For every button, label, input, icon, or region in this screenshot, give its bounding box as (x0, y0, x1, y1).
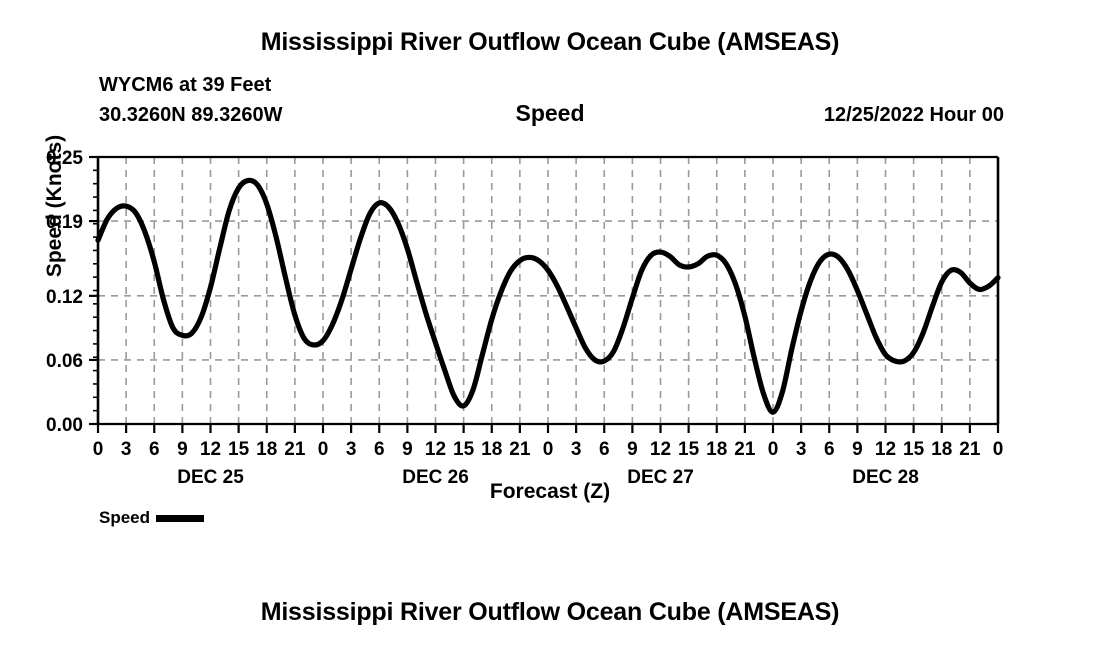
day-label: DEC 26 (402, 467, 469, 488)
y-tick-label: 0.00 (46, 415, 83, 436)
x-tick-label: 6 (824, 439, 835, 460)
x-tick-label: 18 (481, 439, 502, 460)
x-tick-label: 0 (768, 439, 779, 460)
speed-time-series-chart: 0.000.060.120.190.2503691215182103691215… (0, 0, 1100, 560)
x-tick-label: 9 (402, 439, 413, 460)
x-tick-label: 12 (650, 439, 671, 460)
x-tick-label: 9 (177, 439, 188, 460)
legend-label-speed: Speed (99, 508, 150, 528)
x-tick-label: 15 (903, 439, 925, 460)
x-tick-label: 12 (425, 439, 446, 460)
x-tick-label: 12 (200, 439, 221, 460)
x-tick-label: 3 (796, 439, 807, 460)
legend: Speed (99, 508, 204, 528)
x-tick-label: 6 (149, 439, 160, 460)
x-tick-label: 15 (228, 439, 250, 460)
x-tick-label: 9 (852, 439, 863, 460)
x-tick-label: 15 (678, 439, 700, 460)
x-tick-label: 3 (346, 439, 357, 460)
x-tick-label: 0 (318, 439, 329, 460)
x-tick-label: 3 (121, 439, 132, 460)
x-tick-label: 21 (509, 439, 531, 460)
x-tick-label: 0 (543, 439, 554, 460)
y-tick-label: 0.12 (46, 287, 83, 308)
x-tick-label: 21 (959, 439, 981, 460)
x-tick-label: 6 (599, 439, 610, 460)
x-tick-label: 18 (256, 439, 277, 460)
x-tick-label: 21 (284, 439, 306, 460)
x-tick-label: 18 (931, 439, 952, 460)
y-tick-label: 0.19 (46, 212, 83, 233)
y-tick-label: 0.06 (46, 351, 83, 372)
x-tick-label: 18 (706, 439, 727, 460)
legend-swatch-speed (156, 515, 204, 522)
x-tick-label: 6 (374, 439, 385, 460)
x-tick-label: 21 (734, 439, 756, 460)
page-title-bottom: Mississippi River Outflow Ocean Cube (AM… (0, 598, 1100, 627)
x-tick-label: 0 (93, 439, 104, 460)
x-tick-label: 9 (627, 439, 638, 460)
day-label: DEC 27 (627, 467, 694, 488)
x-tick-label: 3 (571, 439, 582, 460)
x-tick-label: 12 (875, 439, 896, 460)
chart-page: Mississippi River Outflow Ocean Cube (AM… (0, 0, 1100, 650)
day-label: DEC 28 (852, 467, 919, 488)
day-label: DEC 25 (177, 467, 244, 488)
x-tick-label: 0 (993, 439, 1004, 460)
y-tick-label: 0.25 (46, 148, 83, 169)
x-tick-label: 15 (453, 439, 475, 460)
